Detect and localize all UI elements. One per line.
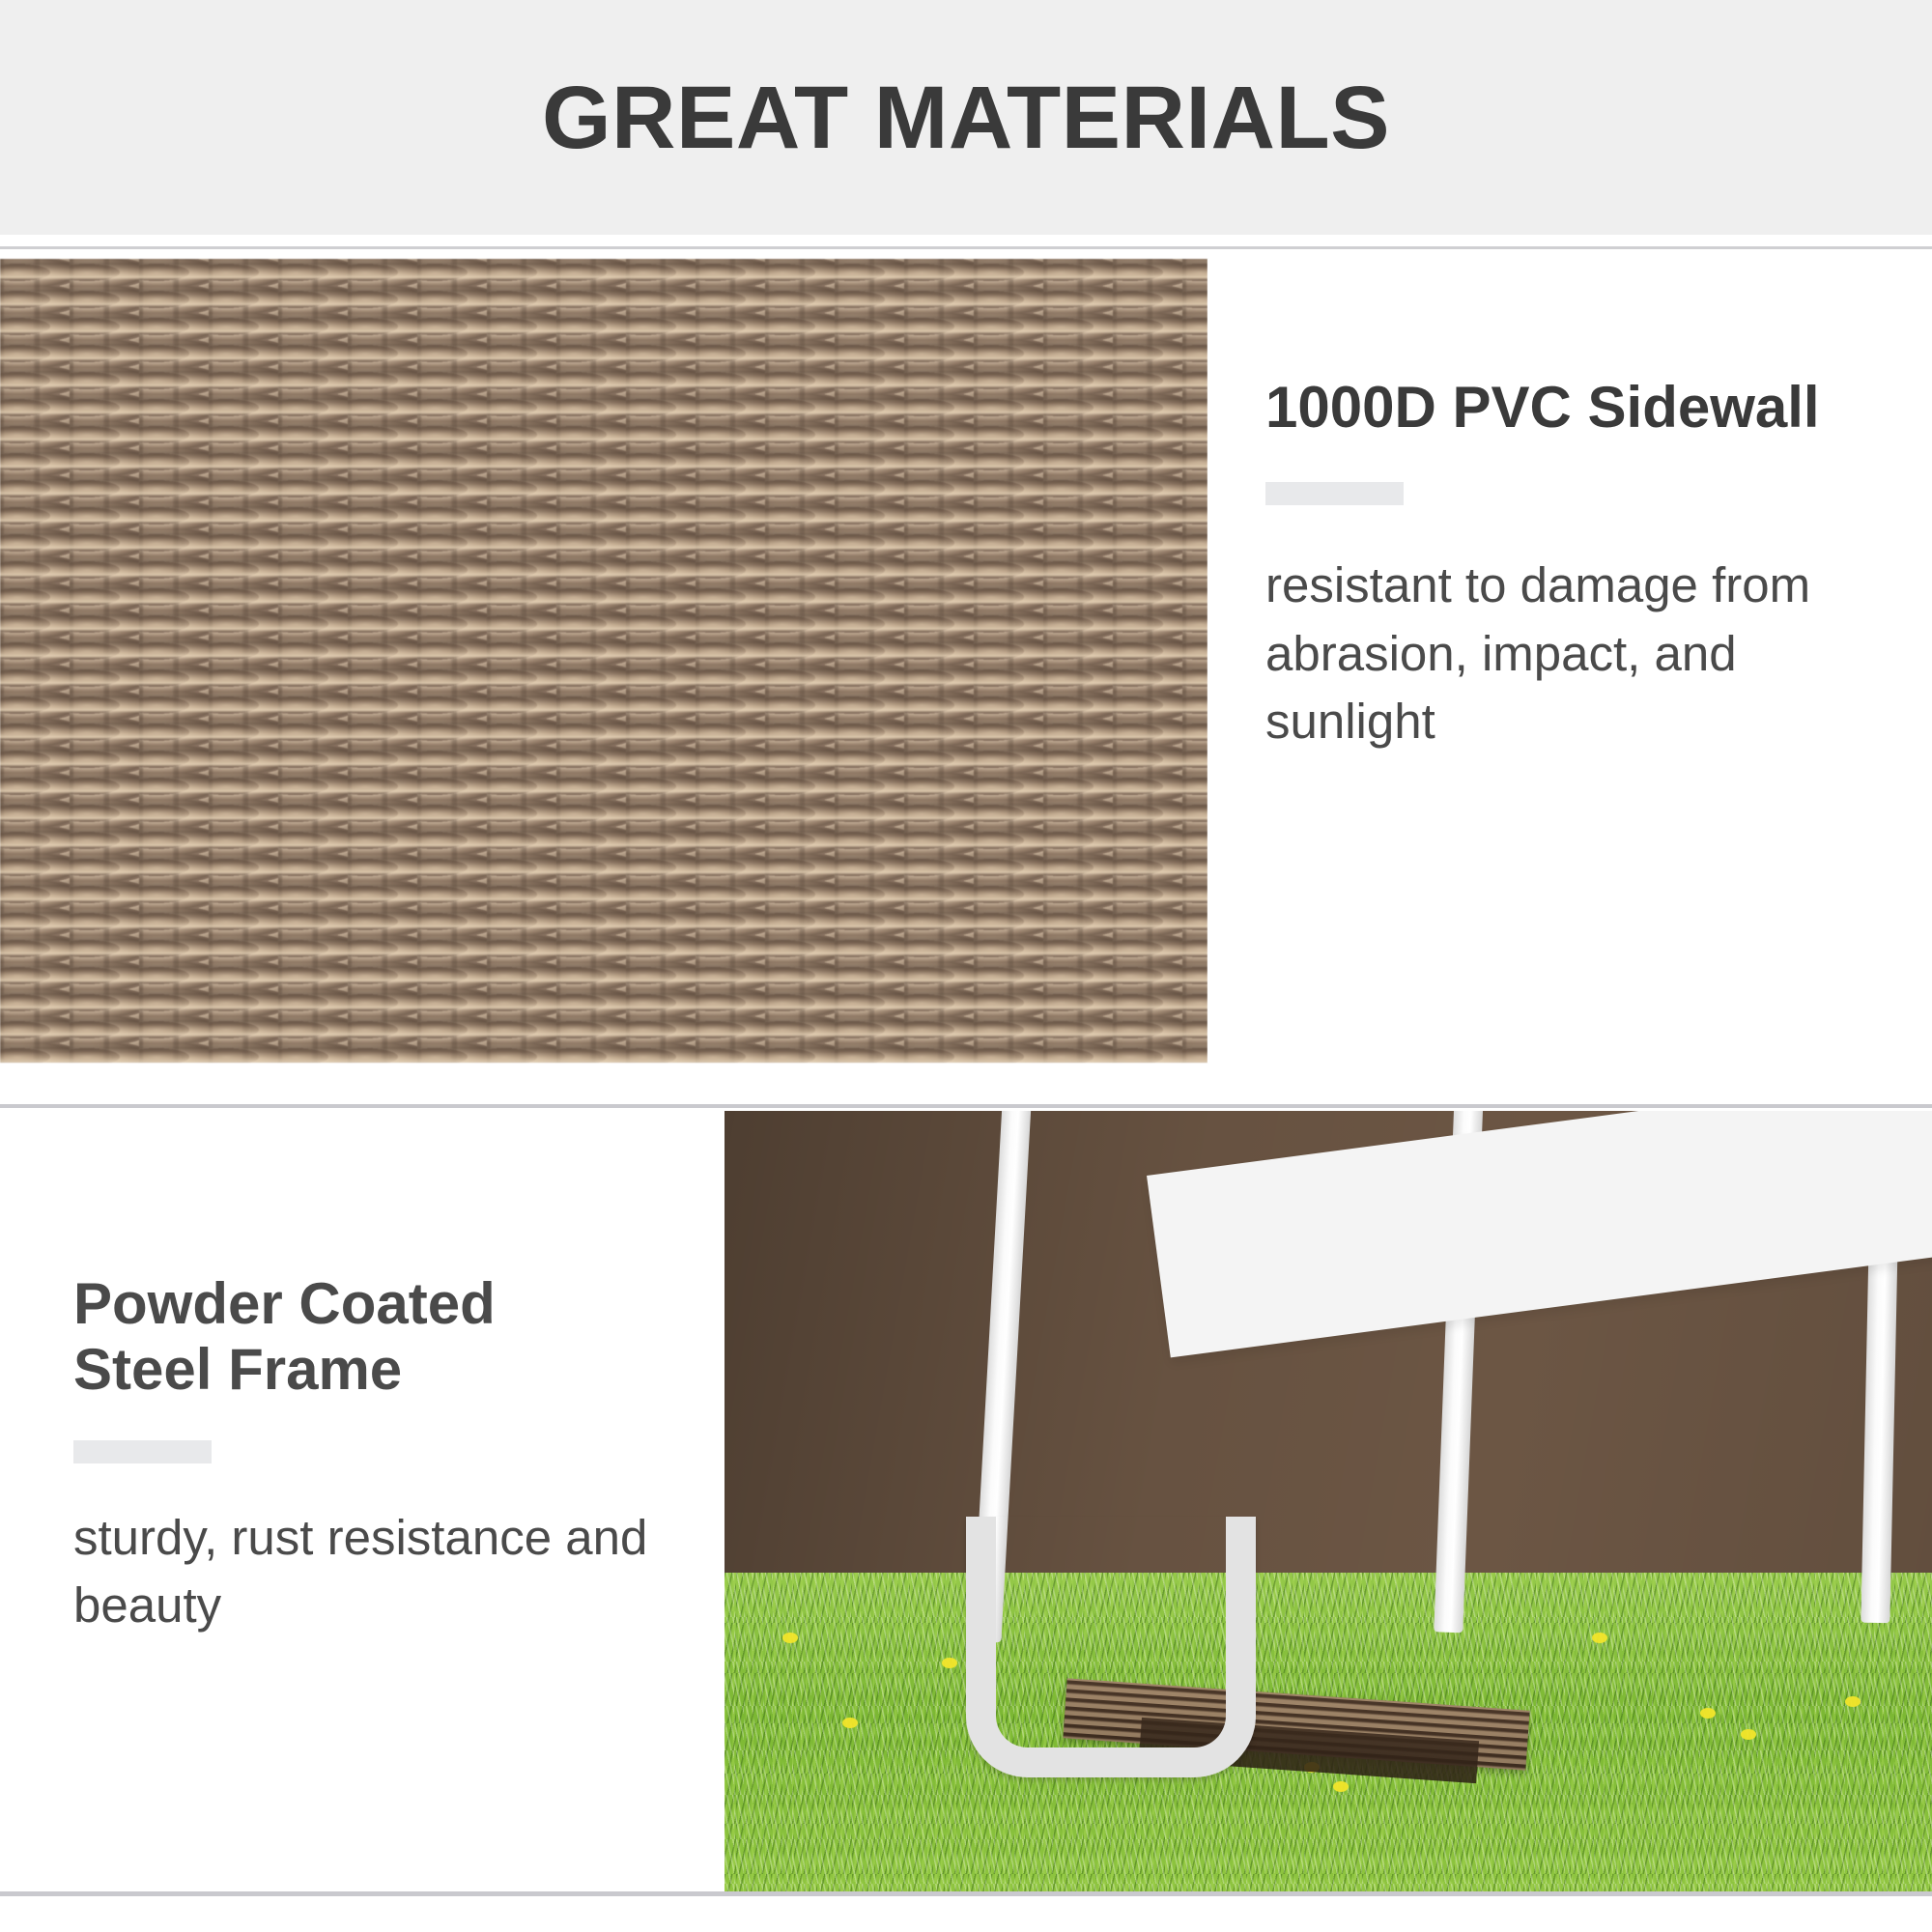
- section-pvc-sidewall-text: 1000D PVC Sidewall resistant to damage f…: [1207, 259, 1932, 1063]
- infographic-page: GREAT MATERIALS 1000D PVC Sidewall resis…: [0, 0, 1932, 1932]
- dandelion-flower: [1845, 1696, 1861, 1707]
- section-body-pvc-sidewall: resistant to damage from abrasion, impac…: [1265, 552, 1845, 755]
- section-heading-pvc-sidewall: 1000D PVC Sidewall: [1265, 375, 1893, 440]
- rattan-texture-image: [0, 259, 1207, 1063]
- pool-frame-image: [724, 1111, 1932, 1891]
- section-steel-frame: Powder Coated Steel Frame sturdy, rust r…: [0, 1111, 1932, 1891]
- heading-accent-bar: [73, 1440, 212, 1463]
- dandelion-flower: [1700, 1708, 1716, 1719]
- section-heading-steel-frame: Powder Coated Steel Frame: [73, 1271, 696, 1404]
- steel-frame-leg: [966, 1517, 1256, 1777]
- dandelion-flower: [782, 1633, 798, 1643]
- heading-accent-bar: [1265, 482, 1404, 505]
- section-steel-frame-text: Powder Coated Steel Frame sturdy, rust r…: [0, 1111, 724, 1891]
- section-body-steel-frame: sturdy, rust resistance and beauty: [73, 1504, 672, 1640]
- section-heading-steel-frame-line1: Powder Coated: [73, 1271, 696, 1337]
- divider-line-top: [0, 246, 1932, 249]
- dandelion-flower: [1333, 1781, 1349, 1792]
- dandelion-flower: [842, 1718, 858, 1728]
- divider-line-bottom: [0, 1891, 1932, 1896]
- dandelion-flower: [942, 1658, 957, 1668]
- dandelion-flower: [1592, 1633, 1607, 1643]
- header-band: GREAT MATERIALS: [0, 0, 1932, 235]
- section-heading-steel-frame-line2: Steel Frame: [73, 1337, 696, 1403]
- section-pvc-sidewall: 1000D PVC Sidewall resistant to damage f…: [0, 259, 1932, 1063]
- page-title: GREAT MATERIALS: [542, 73, 1390, 162]
- divider-line-middle: [0, 1104, 1932, 1108]
- dandelion-flower: [1741, 1729, 1756, 1740]
